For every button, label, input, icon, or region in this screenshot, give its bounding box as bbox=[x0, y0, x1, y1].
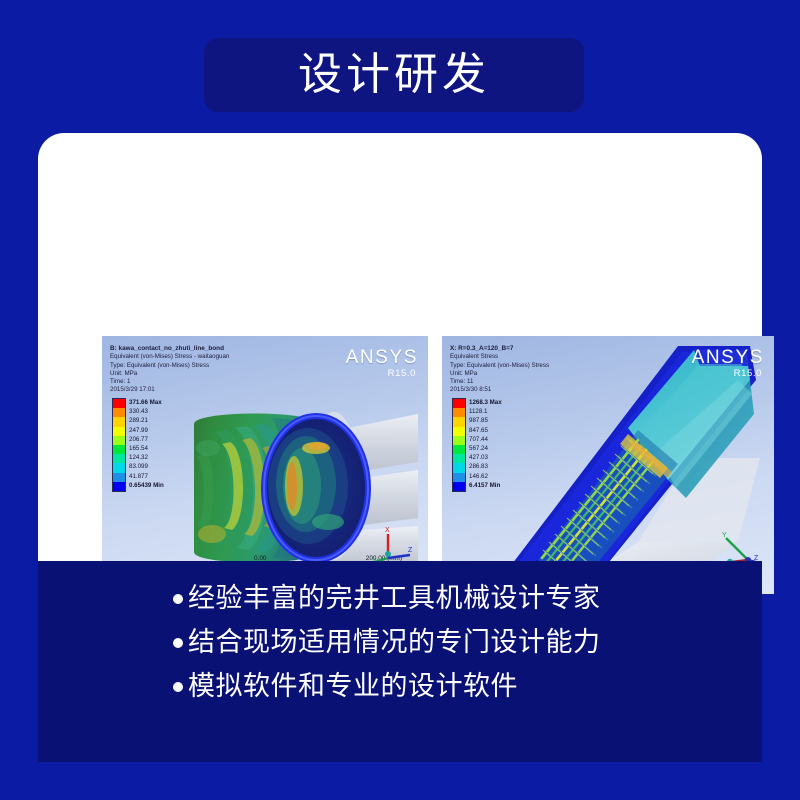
legend-label: 847.65 bbox=[469, 426, 502, 435]
legend-label: 146.62 bbox=[469, 472, 502, 481]
legend-value-labels: 1268.3 Max1128.1987.85847.65707.44567.24… bbox=[469, 398, 502, 492]
features-bullet-list: 经验丰富的完井工具机械设计专家结合现场适用情况的专门设计能力模拟软件和专业的设计… bbox=[173, 583, 601, 703]
legend-label: 707.44 bbox=[469, 435, 502, 444]
result-metadata-left: B: kawa_contact_no_zhuti_line_bond Equiv… bbox=[110, 345, 229, 394]
svg-text:X: X bbox=[385, 527, 390, 534]
legend-swatch bbox=[113, 482, 125, 491]
legend-label: 1128.1 bbox=[469, 407, 502, 416]
meta-time: Time: 1 bbox=[110, 378, 229, 386]
legend-swatch bbox=[453, 436, 465, 445]
legend-label: 371.66 Max bbox=[129, 398, 164, 407]
legend-label: 83.099 bbox=[129, 462, 164, 471]
legend-swatch bbox=[453, 463, 465, 472]
legend-swatch bbox=[113, 436, 125, 445]
feature-bullet-item: 经验丰富的完井工具机械设计专家 bbox=[173, 583, 601, 615]
legend-swatch bbox=[113, 463, 125, 472]
legend-swatch bbox=[453, 454, 465, 463]
meta-result: Equivalent (von-Mises) Stress - waitaogu… bbox=[110, 353, 229, 361]
legend-swatch bbox=[453, 408, 465, 417]
legend-label: 427.03 bbox=[469, 453, 502, 462]
meta-type: Type: Equivalent (von-Mises) Stress bbox=[110, 362, 229, 370]
legend-swatch bbox=[113, 399, 125, 408]
meta-result: Equivalent Stress bbox=[450, 353, 549, 361]
feature-bullet-item: 结合现场适用情况的专门设计能力 bbox=[173, 627, 601, 659]
legend-swatch bbox=[113, 473, 125, 482]
legend-value-labels: 371.66 Max330.43289.21247.99206.77165.54… bbox=[129, 398, 164, 492]
feature-bullet-text: 经验丰富的完井工具机械设计专家 bbox=[188, 583, 601, 615]
meta-timestamp: 2015/3/29 17:01 bbox=[110, 386, 229, 394]
legend-swatch bbox=[453, 417, 465, 426]
svg-text:Y: Y bbox=[722, 532, 727, 539]
page-title-banner: 设计研发 bbox=[204, 38, 584, 112]
features-panel: 经验丰富的完井工具机械设计专家结合现场适用情况的专门设计能力模拟软件和专业的设计… bbox=[38, 561, 762, 762]
legend-swatch bbox=[113, 417, 125, 426]
legend-swatch bbox=[453, 473, 465, 482]
legend-label: 286.83 bbox=[469, 462, 502, 471]
legend-label: 567.24 bbox=[469, 444, 502, 453]
bullet-dot-icon bbox=[173, 594, 183, 604]
meta-project: X: R=0.3_A=120_B=7 bbox=[450, 345, 549, 353]
bullet-dot-icon bbox=[173, 682, 183, 692]
legend-label: 206.77 bbox=[129, 435, 164, 444]
ansys-viewport-right[interactable]: X: R=0.3_A=120_B=7 Equivalent Stress Typ… bbox=[442, 336, 774, 594]
stress-legend-right: 1268.3 Max1128.1987.85847.65707.44567.24… bbox=[452, 398, 502, 492]
legend-label: 6.4157 Min bbox=[469, 481, 502, 490]
legend-swatch bbox=[113, 408, 125, 417]
legend-color-swatches bbox=[452, 398, 466, 492]
legend-swatch bbox=[453, 427, 465, 436]
legend-swatch bbox=[113, 427, 125, 436]
page-title: 设计研发 bbox=[298, 53, 490, 97]
meta-type: Type: Equivalent (von-Mises) Stress bbox=[450, 362, 549, 370]
legend-label: 987.85 bbox=[469, 416, 502, 425]
legend-label: 124.32 bbox=[129, 453, 164, 462]
legend-color-swatches bbox=[112, 398, 126, 492]
svg-text:Z: Z bbox=[408, 547, 413, 554]
legend-swatch bbox=[453, 399, 465, 408]
legend-swatch bbox=[453, 445, 465, 454]
legend-label: 247.99 bbox=[129, 426, 164, 435]
legend-label: 289.21 bbox=[129, 416, 164, 425]
result-metadata-right: X: R=0.3_A=120_B=7 Equivalent Stress Typ… bbox=[450, 345, 549, 394]
feature-bullet-item: 模拟软件和专业的设计软件 bbox=[173, 671, 601, 703]
meta-project: B: kawa_contact_no_zhuti_line_bond bbox=[110, 345, 229, 353]
feature-bullet-text: 模拟软件和专业的设计软件 bbox=[188, 671, 518, 703]
feature-bullet-text: 结合现场适用情况的专门设计能力 bbox=[188, 627, 601, 659]
meta-time: Time: 11 bbox=[450, 378, 549, 386]
legend-swatch bbox=[113, 454, 125, 463]
legend-label: 0.65439 Min bbox=[129, 481, 164, 490]
legend-swatch bbox=[113, 445, 125, 454]
legend-swatch bbox=[453, 482, 465, 491]
meta-timestamp: 2015/3/30 8:51 bbox=[450, 386, 549, 394]
stress-legend-left: 371.66 Max330.43289.21247.99206.77165.54… bbox=[112, 398, 164, 492]
legend-label: 41.877 bbox=[129, 472, 164, 481]
axis-triad-icon-left: X Y Z bbox=[372, 524, 414, 564]
legend-label: 1268.3 Max bbox=[469, 398, 502, 407]
legend-label: 165.54 bbox=[129, 444, 164, 453]
content-card: B: kawa_contact_no_zhuti_line_bond Equiv… bbox=[38, 133, 762, 561]
legend-label: 330.43 bbox=[129, 407, 164, 416]
ansys-viewport-left[interactable]: B: kawa_contact_no_zhuti_line_bond Equiv… bbox=[102, 336, 428, 588]
meta-unit: Unit: MPa bbox=[450, 370, 549, 378]
meta-unit: Unit: MPa bbox=[110, 370, 229, 378]
bullet-dot-icon bbox=[173, 638, 183, 648]
